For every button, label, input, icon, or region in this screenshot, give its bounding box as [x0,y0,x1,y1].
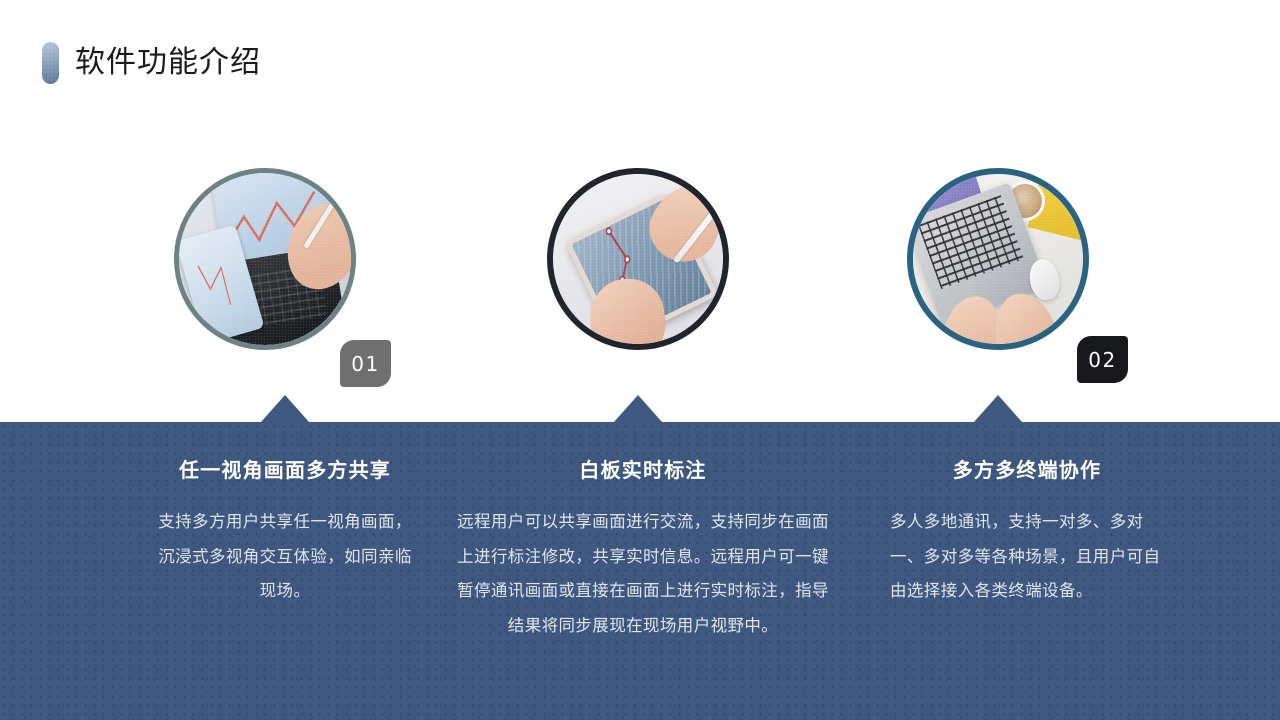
feature-badge-1: 01 [340,340,391,387]
pill-marker-icon [42,42,59,84]
feature-description-panel: 任一视角画面多方共享 支持多方用户共享任一视角画面，沉浸式多视角交互体验，如同亲… [0,422,1280,720]
feature-image-row: 01 0 [0,160,1280,370]
page-header: 软件功能介绍 [42,42,261,84]
feature-body-3: 多人多地通讯，支持一对多、多对一、多对多等各种场景，且用户可自由选择接入各类终端… [862,505,1192,609]
feature-title-2: 白板实时标注 [448,454,838,483]
laptop-tablet-chart-photo [174,168,356,350]
feature-body-2: 远程用户可以共享画面进行交流，支持同步在画面上进行标注修改，共享实时信息。远程用… [448,505,838,644]
page-title: 软件功能介绍 [75,48,261,78]
feature-title-1: 任一视角画面多方共享 [120,454,450,483]
panel-notch-2 [614,395,662,422]
feature-column-1: 任一视角画面多方共享 支持多方用户共享任一视角画面，沉浸式多视角交互体验，如同亲… [120,454,450,609]
feature-body-1: 支持多方用户共享任一视角画面，沉浸式多视角交互体验，如同亲临现场。 [120,505,450,609]
feature-circle-2[interactable]: 02 [547,168,729,350]
feature-column-2: 白板实时标注 远程用户可以共享画面进行交流，支持同步在画面上进行标注修改，共享实… [448,454,838,644]
feature-circle-3[interactable]: 03 [907,168,1089,350]
tablet-stylus-annotation-photo [547,168,729,350]
panel-notch-3 [974,395,1022,422]
slide-root: 软件功能介绍 [0,0,1280,720]
feature-title-3: 多方多终端协作 [862,454,1192,483]
feature-badge-2: 02 [1077,336,1128,383]
desk-laptop-hands-photo [907,168,1089,350]
feature-circle-1[interactable]: 01 [174,168,356,350]
feature-text-columns: 任一视角画面多方共享 支持多方用户共享任一视角画面，沉浸式多视角交互体验，如同亲… [0,422,1280,720]
feature-column-3: 多方多终端协作 多人多地通讯，支持一对多、多对一、多对多等各种场景，且用户可自由… [862,454,1192,609]
panel-notch-1 [261,395,309,422]
